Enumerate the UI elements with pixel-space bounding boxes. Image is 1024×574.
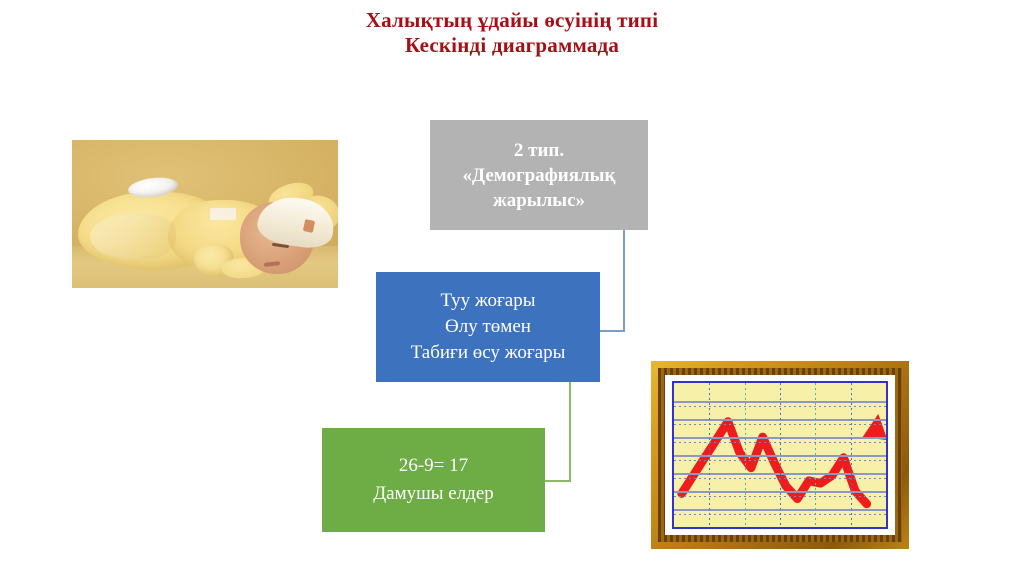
box-demographic-explosion: 2 тип. «Демографиялық жарылыс» — [430, 120, 648, 230]
box-blue-line-3: Табиғи өсу жоғары — [411, 340, 566, 366]
box-gray-line-3: жарылыс» — [463, 188, 616, 213]
box-gray-line-2: «Демографиялық — [463, 163, 616, 188]
box-developing-countries: 26-9= 17 Дамушы елдер — [322, 428, 545, 532]
box-blue-line-2: Өлу төмен — [411, 314, 566, 340]
frame-mat — [665, 375, 895, 535]
chart-gridline-vertical — [745, 383, 746, 527]
baby-photo-image — [72, 140, 338, 288]
blanket-fold — [90, 214, 176, 260]
chart-gridline-vertical — [815, 383, 816, 527]
box-blue-line-1: Туу жоғары — [411, 288, 566, 314]
box-gray-text: 2 тип. «Демографиялық жарылыс» — [463, 138, 616, 213]
chart-plot-area — [672, 381, 888, 529]
box-gray-line-1: 2 тип. — [463, 138, 616, 163]
chart-gridline-vertical — [780, 383, 781, 527]
box-green-text: 26-9= 17 Дамушы елдер — [373, 452, 494, 508]
garment-label — [210, 208, 236, 220]
connector-blue-to-green-vertical — [569, 382, 571, 481]
title-line-2: Кескінді диаграммада — [0, 33, 1024, 58]
box-green-line-2: Дамушы елдер — [373, 480, 494, 508]
frame-inner-border — [658, 368, 902, 542]
chart-gridline-vertical — [709, 383, 710, 527]
connector-blue-to-green-horizontal — [544, 480, 571, 482]
connector-gray-to-blue-horizontal — [598, 330, 625, 332]
box-birth-death-growth: Туу жоғары Өлу төмен Табиғи өсу жоғары — [376, 272, 600, 382]
connector-gray-to-blue-vertical — [623, 230, 625, 331]
slide-title: Халықтың ұдайы өсуінің типі Кескінді диа… — [0, 8, 1024, 58]
chart-gridline-vertical — [851, 383, 852, 527]
title-line-1: Халықтың ұдайы өсуінің типі — [0, 8, 1024, 33]
framed-growth-chart — [651, 361, 909, 549]
box-blue-text: Туу жоғары Өлу төмен Табиғи өсу жоғары — [411, 288, 566, 366]
box-green-line-1: 26-9= 17 — [373, 452, 494, 480]
